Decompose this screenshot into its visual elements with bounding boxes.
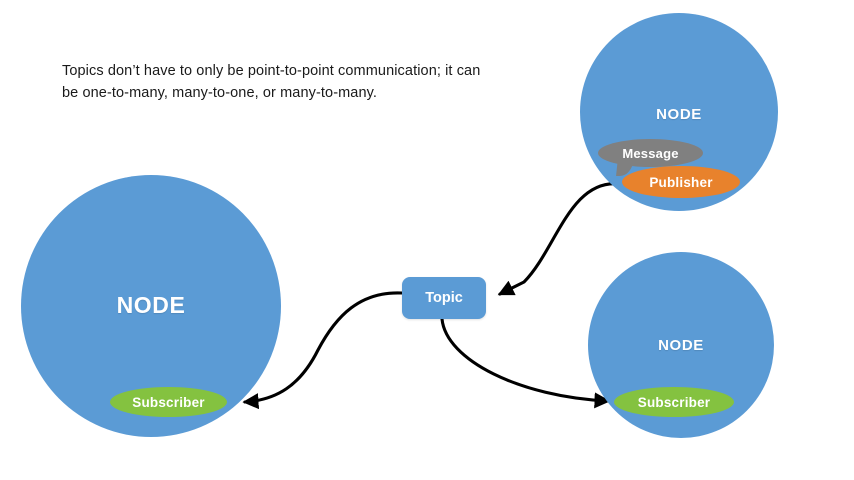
edge-publisher-to-topic <box>500 184 620 294</box>
topic-box[interactable]: Topic <box>402 277 486 319</box>
subscriber-pill-bottom-right[interactable]: Subscriber <box>614 387 734 417</box>
node-left-label: NODE <box>21 292 281 319</box>
edge-topic-to-subscriber-bottom-right <box>442 319 608 401</box>
node-top-right-label: NODE <box>580 106 778 123</box>
node-bottom-right-label: NODE <box>588 337 774 354</box>
publisher-pill[interactable]: Publisher <box>622 166 740 198</box>
subscriber-pill-left[interactable]: Subscriber <box>110 387 227 417</box>
caption-text: Topics don’t have to only be point-to-po… <box>62 60 482 105</box>
message-pill[interactable]: Message <box>598 139 703 167</box>
diagram-canvas: Topics don’t have to only be point-to-po… <box>0 0 854 480</box>
